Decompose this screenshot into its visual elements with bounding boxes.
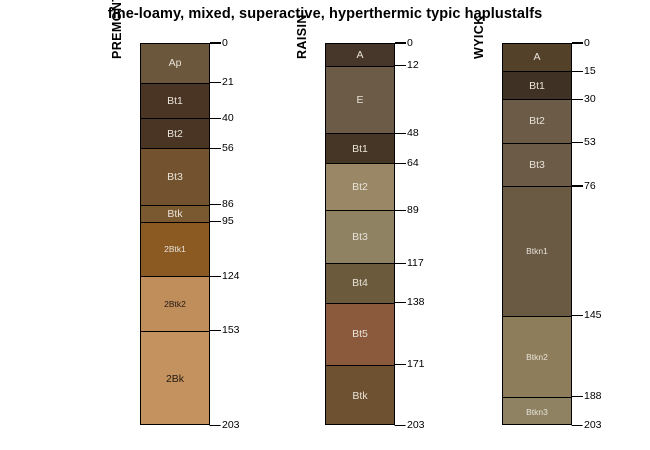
depth-tick — [572, 396, 583, 397]
horizon-btk: Btk — [326, 366, 394, 425]
horizon-bt1: Bt1 — [503, 72, 571, 100]
horizon-btkn2: Btkn2 — [503, 317, 571, 398]
depth-label: 64 — [407, 158, 419, 169]
horizon-label: Btkn2 — [526, 353, 548, 362]
depth-tick — [395, 364, 406, 365]
soil-profile-figure: fine-loamy, mixed, superactive, hyperthe… — [0, 0, 650, 450]
depth-label: 95 — [222, 216, 234, 227]
depth-tick — [210, 42, 221, 43]
horizon-bt3: Bt3 — [141, 149, 209, 205]
horizon-label: Ap — [169, 58, 182, 69]
depth-label: 21 — [222, 77, 234, 88]
horizon-label: Bt2 — [352, 182, 368, 193]
horizon-label: Bt1 — [529, 81, 545, 92]
depth-label: 117 — [407, 258, 424, 269]
depth-tick — [210, 221, 221, 222]
depth-tick — [395, 263, 406, 264]
horizon-label: A — [356, 50, 363, 61]
depth-tick — [395, 163, 406, 164]
horizon-bt1: Bt1 — [326, 134, 394, 164]
horizon-label: 2Btk2 — [164, 300, 186, 309]
horizon-a: A — [326, 44, 394, 67]
profile-column-raisin: AEBt1Bt2Bt3Bt4Bt5Btk — [325, 43, 395, 425]
horizon-label: Bt3 — [529, 160, 545, 171]
horizon-bt3: Bt3 — [503, 144, 571, 187]
horizon-label: Bt4 — [352, 278, 368, 289]
depth-label: 124 — [222, 271, 240, 282]
depth-tick — [572, 315, 583, 316]
depth-label: 203 — [407, 420, 425, 431]
depth-tick — [395, 65, 406, 66]
depth-tick — [572, 99, 583, 100]
depth-tick — [572, 42, 583, 43]
horizon-label: Bt1 — [167, 96, 183, 107]
horizon-label: Bt2 — [167, 129, 183, 140]
page-title: fine-loamy, mixed, superactive, hyperthe… — [0, 6, 650, 22]
horizon-bt2: Bt2 — [141, 119, 209, 149]
depth-tick — [395, 210, 406, 211]
depth-label: 203 — [584, 420, 602, 431]
depth-tick — [395, 42, 406, 43]
depth-tick — [210, 204, 221, 205]
horizon-label: Btkn3 — [526, 408, 548, 417]
depth-label: 15 — [584, 66, 596, 77]
depth-label: 0 — [407, 38, 413, 49]
depth-tick — [210, 118, 221, 119]
horizon-label: Bt5 — [352, 329, 368, 340]
depth-label: 145 — [584, 310, 602, 321]
depth-label: 30 — [584, 94, 596, 105]
horizon-label: Bt3 — [352, 232, 368, 243]
depth-tick — [210, 276, 221, 277]
depth-label: 171 — [407, 359, 425, 370]
depth-label: 203 — [222, 420, 240, 431]
horizon-btkn3: Btkn3 — [503, 398, 571, 425]
depth-tick — [210, 82, 221, 83]
depth-label: 0 — [222, 38, 228, 49]
profile-column-premont: ApBt1Bt2Bt3Btk2Btk12Btk22Bk — [140, 43, 210, 425]
depth-label: 76 — [584, 181, 596, 192]
depth-label: 53 — [584, 137, 596, 148]
horizon-bt1: Bt1 — [141, 84, 209, 120]
horizon-btk: Btk — [141, 206, 209, 223]
profile-name-premont: PREMONT — [110, 0, 124, 59]
horizon-2btk2: 2Btk2 — [141, 277, 209, 332]
depth-label: 188 — [584, 391, 602, 402]
depth-label: 86 — [222, 199, 234, 210]
horizon-btkn1: Btkn1 — [503, 187, 571, 317]
profile-name-raisin: RAISIN — [295, 14, 309, 59]
horizon-label: Bt1 — [352, 144, 368, 155]
horizon-a: A — [503, 44, 571, 72]
horizon-label: Btk — [167, 209, 182, 220]
depth-tick — [572, 71, 583, 72]
horizon-label: Bt3 — [167, 172, 183, 183]
depth-tick — [572, 185, 583, 186]
depth-label: 0 — [584, 38, 590, 49]
depth-label: 153 — [222, 325, 240, 336]
depth-tick — [210, 330, 221, 331]
horizon-bt4: Bt4 — [326, 264, 394, 304]
horizon-bt2: Bt2 — [503, 100, 571, 143]
depth-tick — [395, 133, 406, 134]
horizon-bt3: Bt3 — [326, 211, 394, 264]
horizon-label: 2Bk — [166, 374, 184, 385]
horizon-2btk1: 2Btk1 — [141, 223, 209, 278]
depth-label: 48 — [407, 128, 419, 139]
profile-column-wyick: ABt1Bt2Bt3Btkn1Btkn2Btkn3 — [502, 43, 572, 425]
depth-label: 40 — [222, 113, 234, 124]
horizon-label: Btkn1 — [526, 247, 548, 256]
horizon-label: Btk — [352, 391, 367, 402]
horizon-label: 2Btk1 — [164, 245, 186, 254]
depth-tick — [395, 302, 406, 303]
horizon-label: A — [533, 52, 540, 63]
horizon-2bk: 2Bk — [141, 332, 209, 425]
horizon-ap: Ap — [141, 44, 209, 84]
depth-label: 56 — [222, 143, 234, 154]
horizon-bt5: Bt5 — [326, 304, 394, 366]
profile-name-wyick: WYICK — [472, 15, 486, 59]
horizon-bt2: Bt2 — [326, 164, 394, 211]
depth-tick — [572, 142, 583, 143]
depth-label: 89 — [407, 205, 419, 216]
horizon-e: E — [326, 67, 394, 135]
horizon-label: Bt2 — [529, 116, 545, 127]
depth-tick — [210, 148, 221, 149]
depth-label: 12 — [407, 60, 419, 71]
depth-label: 138 — [407, 297, 425, 308]
horizon-label: E — [356, 95, 363, 106]
